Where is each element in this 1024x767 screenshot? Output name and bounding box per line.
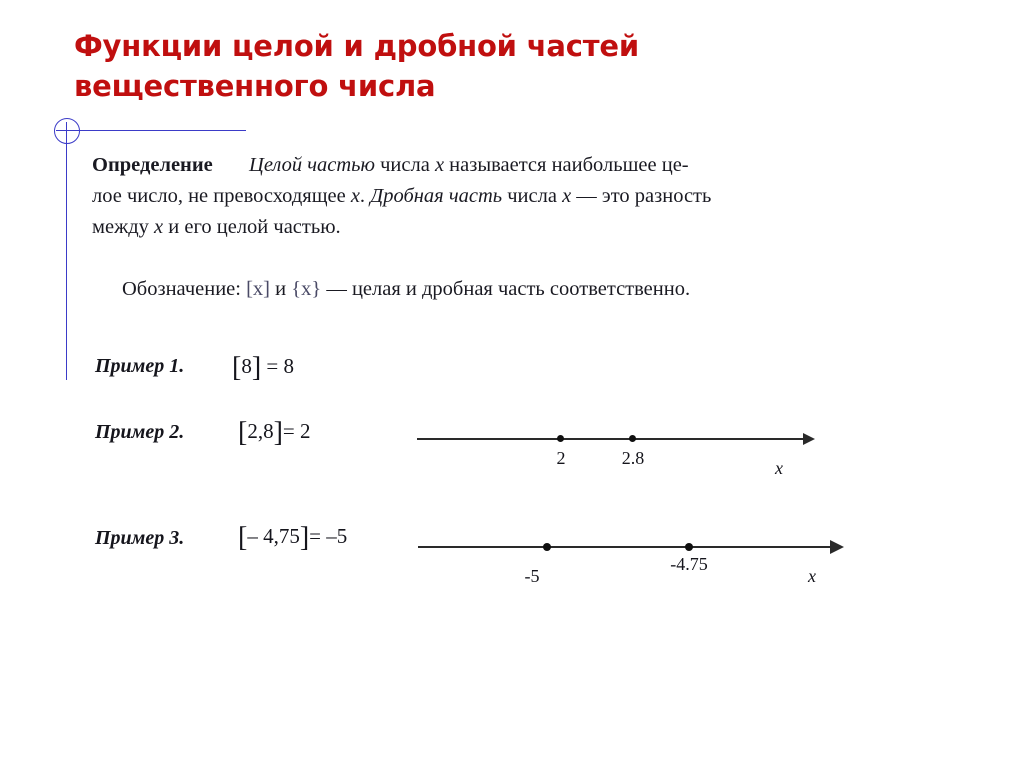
definition-var-x-4: x <box>154 216 163 238</box>
notation-integer-part-symbol: [x] <box>246 278 270 300</box>
definition-text-2b: . <box>360 185 370 207</box>
example-3-argument: – 4,75 <box>247 524 300 548</box>
number-line-point <box>543 543 551 551</box>
number-line-point <box>685 543 693 551</box>
definition-text-2c: числа <box>502 185 562 207</box>
definition-var-x-1: x <box>435 154 444 176</box>
definition-line-2: лое число, не превосходящее x. Дробная ч… <box>92 181 1012 212</box>
example-3-result: = –5 <box>309 524 347 548</box>
definition-term-integer-part: Целой частью <box>249 154 375 176</box>
number-line-example-2: 2 2.8 x <box>417 432 837 482</box>
definition-text-2a: лое число, не превосходящее <box>92 185 351 207</box>
definition-var-x-3: x <box>562 185 571 207</box>
example-1-formula: [8] = 8 <box>232 352 294 384</box>
number-line-example-3: -5 -4.75 x <box>418 540 858 595</box>
number-line-point-label: 2.8 <box>622 448 645 469</box>
definition-text-1b: называется наибольшее це- <box>444 154 689 176</box>
number-line-axis-label: x <box>808 566 816 587</box>
page-title-line-2: вещественного числа <box>74 66 714 106</box>
arrow-head-icon <box>803 433 815 445</box>
example-1-argument: 8 <box>241 354 252 378</box>
notation-fractional-part-symbol: {x} <box>291 278 321 300</box>
definition-block: Определение Целой частью числа x называе… <box>92 150 1012 243</box>
example-3-bracket-close: ] <box>300 522 309 553</box>
arrow-head-icon <box>830 540 844 554</box>
number-line-point <box>557 435 564 442</box>
page-title-line-1: Функции целой и дробной частей <box>74 26 714 66</box>
number-line-axis-label: x <box>775 458 783 479</box>
definition-text-3a: между <box>92 216 154 238</box>
notation-prefix: Обозначение: <box>122 278 241 300</box>
example-2-formula: [2,8]= 2 <box>238 417 311 449</box>
number-line-point <box>629 435 636 442</box>
example-3-formula: [– 4,75]= –5 <box>238 522 347 554</box>
definition-term-fractional-part: Дробная часть <box>370 185 502 207</box>
notation-suffix: целая и дробная часть соответственно. <box>352 278 690 300</box>
definition-text-2d: — это разность <box>571 185 711 207</box>
number-line-point-label: -5 <box>525 566 540 587</box>
example-3-label: Пример 3. <box>95 527 184 550</box>
number-line-axis <box>417 438 809 440</box>
example-2-label: Пример 2. <box>95 421 184 444</box>
example-2-argument: 2,8 <box>247 419 273 443</box>
decorative-horizontal-rule <box>56 130 246 131</box>
example-2-result: = 2 <box>283 419 311 443</box>
definition-var-x-2: x <box>351 185 360 207</box>
example-1-bracket-close: ] <box>252 352 261 383</box>
notation-conjunction: и <box>275 278 286 300</box>
decorative-vertical-rule <box>66 122 67 380</box>
example-3-bracket-open: [ <box>238 522 247 553</box>
definition-text-1a: числа <box>375 154 435 176</box>
definition-text-3b: и его целой частью. <box>163 216 341 238</box>
notation-dash: — <box>326 278 347 300</box>
definition-line-3: между x и его целой частью. <box>92 212 1012 243</box>
slide-canvas: Функции целой и дробной частей веществен… <box>0 0 1024 767</box>
number-line-axis <box>418 546 836 548</box>
example-1-label: Пример 1. <box>95 355 184 378</box>
example-1-bracket-open: [ <box>232 352 241 383</box>
example-1-result: = 8 <box>266 354 294 378</box>
definition-line-1: Определение Целой частью числа x называе… <box>92 150 1012 181</box>
example-2-bracket-open: [ <box>238 417 247 448</box>
number-line-point-label: -4.75 <box>670 554 708 575</box>
definition-heading: Определение <box>92 154 213 176</box>
number-line-point-label: 2 <box>557 448 566 469</box>
notation-line: Обозначение: [x] и {x} — целая и дробная… <box>122 274 690 304</box>
decorative-circle-icon <box>54 118 80 144</box>
page-title: Функции целой и дробной частей веществен… <box>74 26 714 106</box>
example-2-bracket-close: ] <box>274 417 283 448</box>
